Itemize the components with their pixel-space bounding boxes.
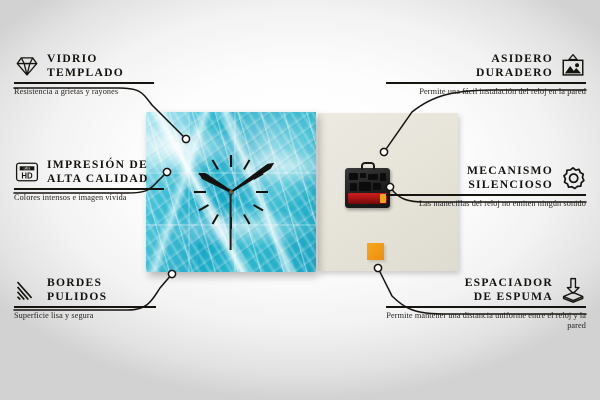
feature-title: BORDES PULIDOS [47, 276, 107, 303]
clock-mechanism [345, 168, 390, 208]
feature-title: ESPACIADOR DE ESPUMA [465, 276, 553, 303]
feature-desc: Permite mantener una distancia uniforme … [386, 311, 586, 331]
polished-edges-icon [14, 277, 40, 303]
feature-desc: Resistencia a grietas y rayones [14, 87, 214, 97]
feature-bordes-pulidos: BORDES PULIDOS Superficie lisa y segura [14, 276, 214, 321]
feature-desc: Colores intensos e imagen vívida [14, 193, 214, 203]
feature-impresion-alta-calidad: ultra HD IMPRESIÓN DE ALTA CALIDAD Color… [14, 158, 214, 203]
feature-rule [386, 306, 586, 308]
feature-espaciador-espuma: ESPACIADOR DE ESPUMA Permite mantener un… [386, 276, 586, 332]
mechanism-hanger-icon [361, 162, 375, 170]
gear-icon [560, 165, 586, 191]
feature-desc: Las manecillas del reloj no emiten ningú… [386, 199, 586, 209]
feature-title: ASIDERO DURADERO [476, 52, 553, 79]
feature-rule [386, 82, 586, 84]
feature-title: IMPRESIÓN DE ALTA CALIDAD [47, 158, 149, 185]
mechanism-slots [349, 173, 386, 191]
feature-desc: Permite una fácil instalación del reloj … [386, 87, 586, 97]
hanging-frame-icon [560, 53, 586, 79]
infographic-canvas: VIDRIO TEMPLADO Resistencia a grietas y … [0, 0, 600, 400]
clock-battery [348, 193, 387, 204]
feature-asidero-duradero: ASIDERO DURADERO Permite una fácil insta… [386, 52, 586, 97]
feature-title: VIDRIO TEMPLADO [47, 52, 124, 79]
feature-mecanismo-silencioso: MECANISMO SILENCIOSO Las manecillas del … [386, 164, 586, 209]
diamond-icon [14, 53, 40, 79]
feature-rule [386, 194, 586, 196]
foam-spacer [367, 243, 384, 260]
second-hand [230, 192, 232, 250]
feature-rule [14, 82, 154, 84]
ultra-hd-icon: ultra HD [14, 159, 40, 185]
feature-title: MECANISMO SILENCIOSO [467, 164, 553, 191]
svg-text:ultra: ultra [24, 166, 31, 170]
feature-vidrio-templado: VIDRIO TEMPLADO Resistencia a grietas y … [14, 52, 214, 97]
foam-spacer-icon [560, 277, 586, 303]
feature-rule [14, 188, 164, 190]
svg-text:HD: HD [21, 171, 33, 180]
feature-rule [14, 306, 156, 308]
feature-desc: Superficie lisa y segura [14, 311, 214, 321]
